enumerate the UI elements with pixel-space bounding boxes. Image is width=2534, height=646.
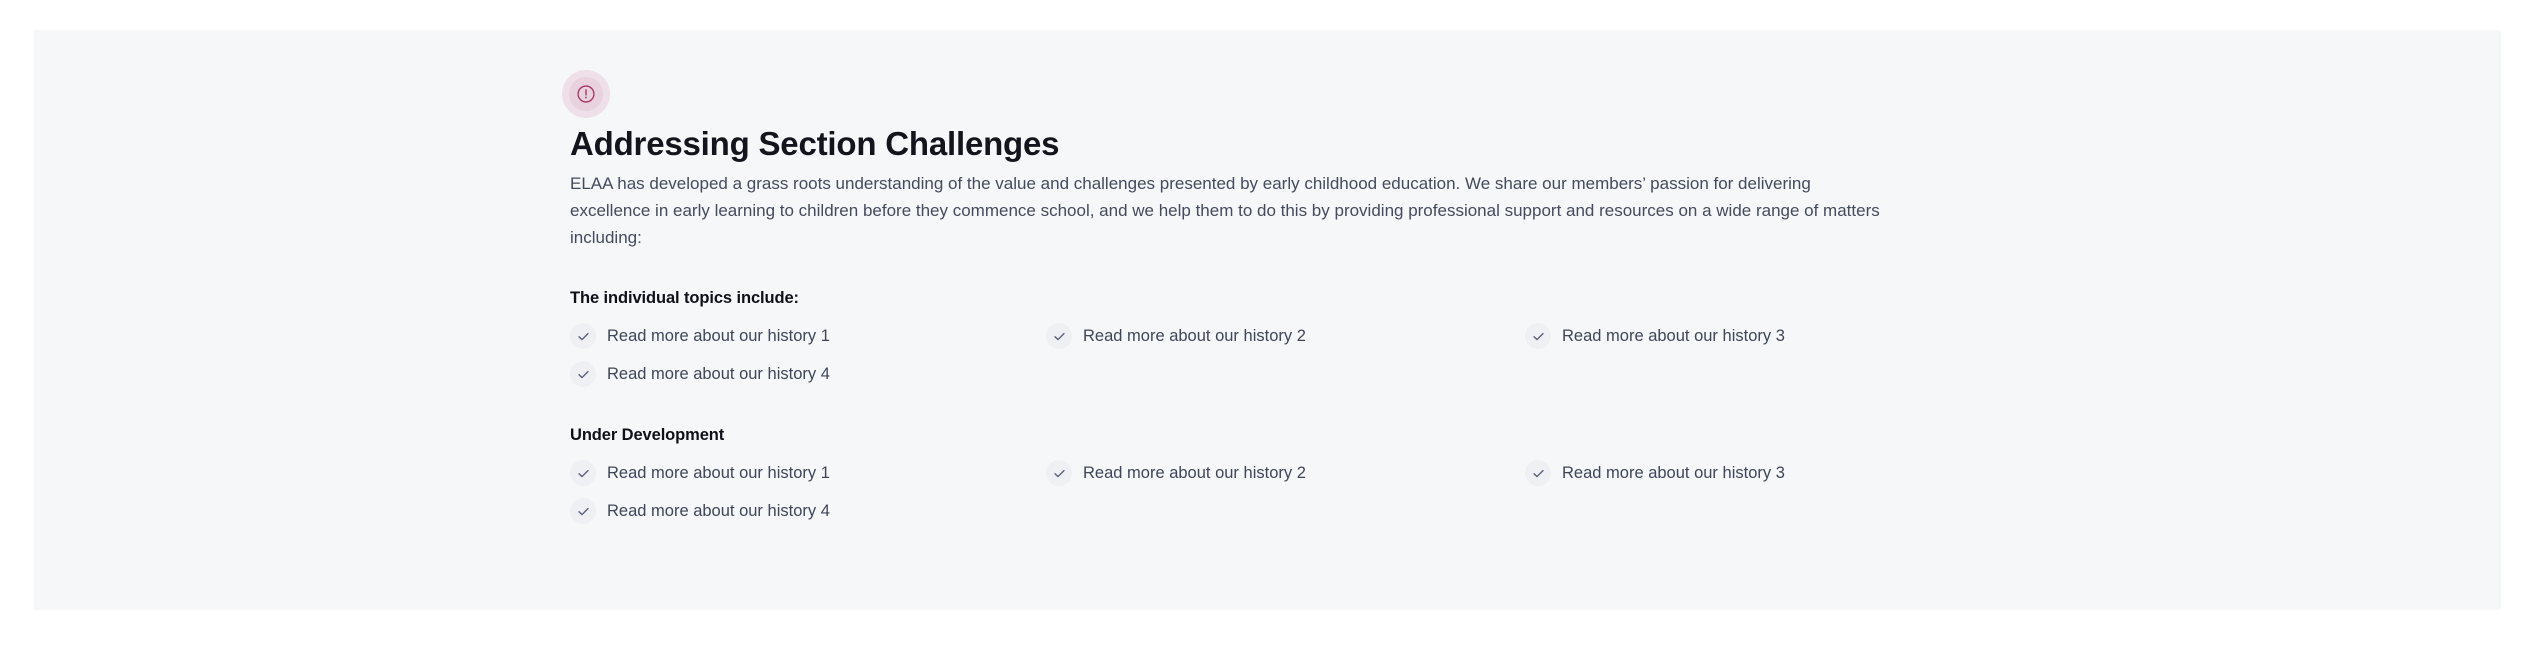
alert-circle-icon <box>576 84 596 104</box>
check-icon <box>1525 460 1551 486</box>
section-content: Addressing Section Challenges ELAA has d… <box>570 70 2440 527</box>
list-item[interactable]: Read more about our history 1 <box>570 320 1046 352</box>
group-title: The individual topics include: <box>570 289 2440 308</box>
list-item-label: Read more about our history 1 <box>607 325 830 347</box>
list-item[interactable]: Read more about our history 1 <box>570 457 1046 489</box>
list-item[interactable]: Read more about our history 2 <box>1046 320 1525 352</box>
list-item[interactable]: Read more about our history 4 <box>570 358 1046 390</box>
list-item-label: Read more about our history 3 <box>1562 325 1785 347</box>
check-icon <box>1525 323 1551 349</box>
section-panel: Addressing Section Challenges ELAA has d… <box>34 30 2501 610</box>
list-item-label: Read more about our history 2 <box>1083 325 1306 347</box>
topic-list: Read more about our history 1 Read more … <box>570 457 2440 527</box>
group-title: Under Development <box>570 426 2440 445</box>
list-item-label: Read more about our history 1 <box>607 462 830 484</box>
check-icon <box>570 498 596 524</box>
list-item-label: Read more about our history 4 <box>607 363 830 385</box>
check-icon <box>570 460 596 486</box>
section-intro-paragraph: ELAA has developed a grass roots underst… <box>570 170 1890 251</box>
topic-group-under-development: Under Development Read more about our hi… <box>570 426 2440 527</box>
list-item[interactable]: Read more about our history 3 <box>1525 320 2440 352</box>
list-item-label: Read more about our history 2 <box>1083 462 1306 484</box>
check-icon <box>570 361 596 387</box>
list-item[interactable]: Read more about our history 3 <box>1525 457 2440 489</box>
list-item[interactable]: Read more about our history 4 <box>570 495 1046 527</box>
list-item[interactable]: Read more about our history 2 <box>1046 457 1525 489</box>
list-item-label: Read more about our history 3 <box>1562 462 1785 484</box>
page-title: Addressing Section Challenges <box>570 124 2440 164</box>
alert-circle-badge <box>562 70 610 118</box>
list-item-label: Read more about our history 4 <box>607 500 830 522</box>
topic-group-individual: The individual topics include: Read more… <box>570 289 2440 390</box>
check-icon <box>570 323 596 349</box>
check-icon <box>1046 460 1072 486</box>
topic-list: Read more about our history 1 Read more … <box>570 320 2440 390</box>
page-root: Addressing Section Challenges ELAA has d… <box>0 0 2534 646</box>
check-icon <box>1046 323 1072 349</box>
